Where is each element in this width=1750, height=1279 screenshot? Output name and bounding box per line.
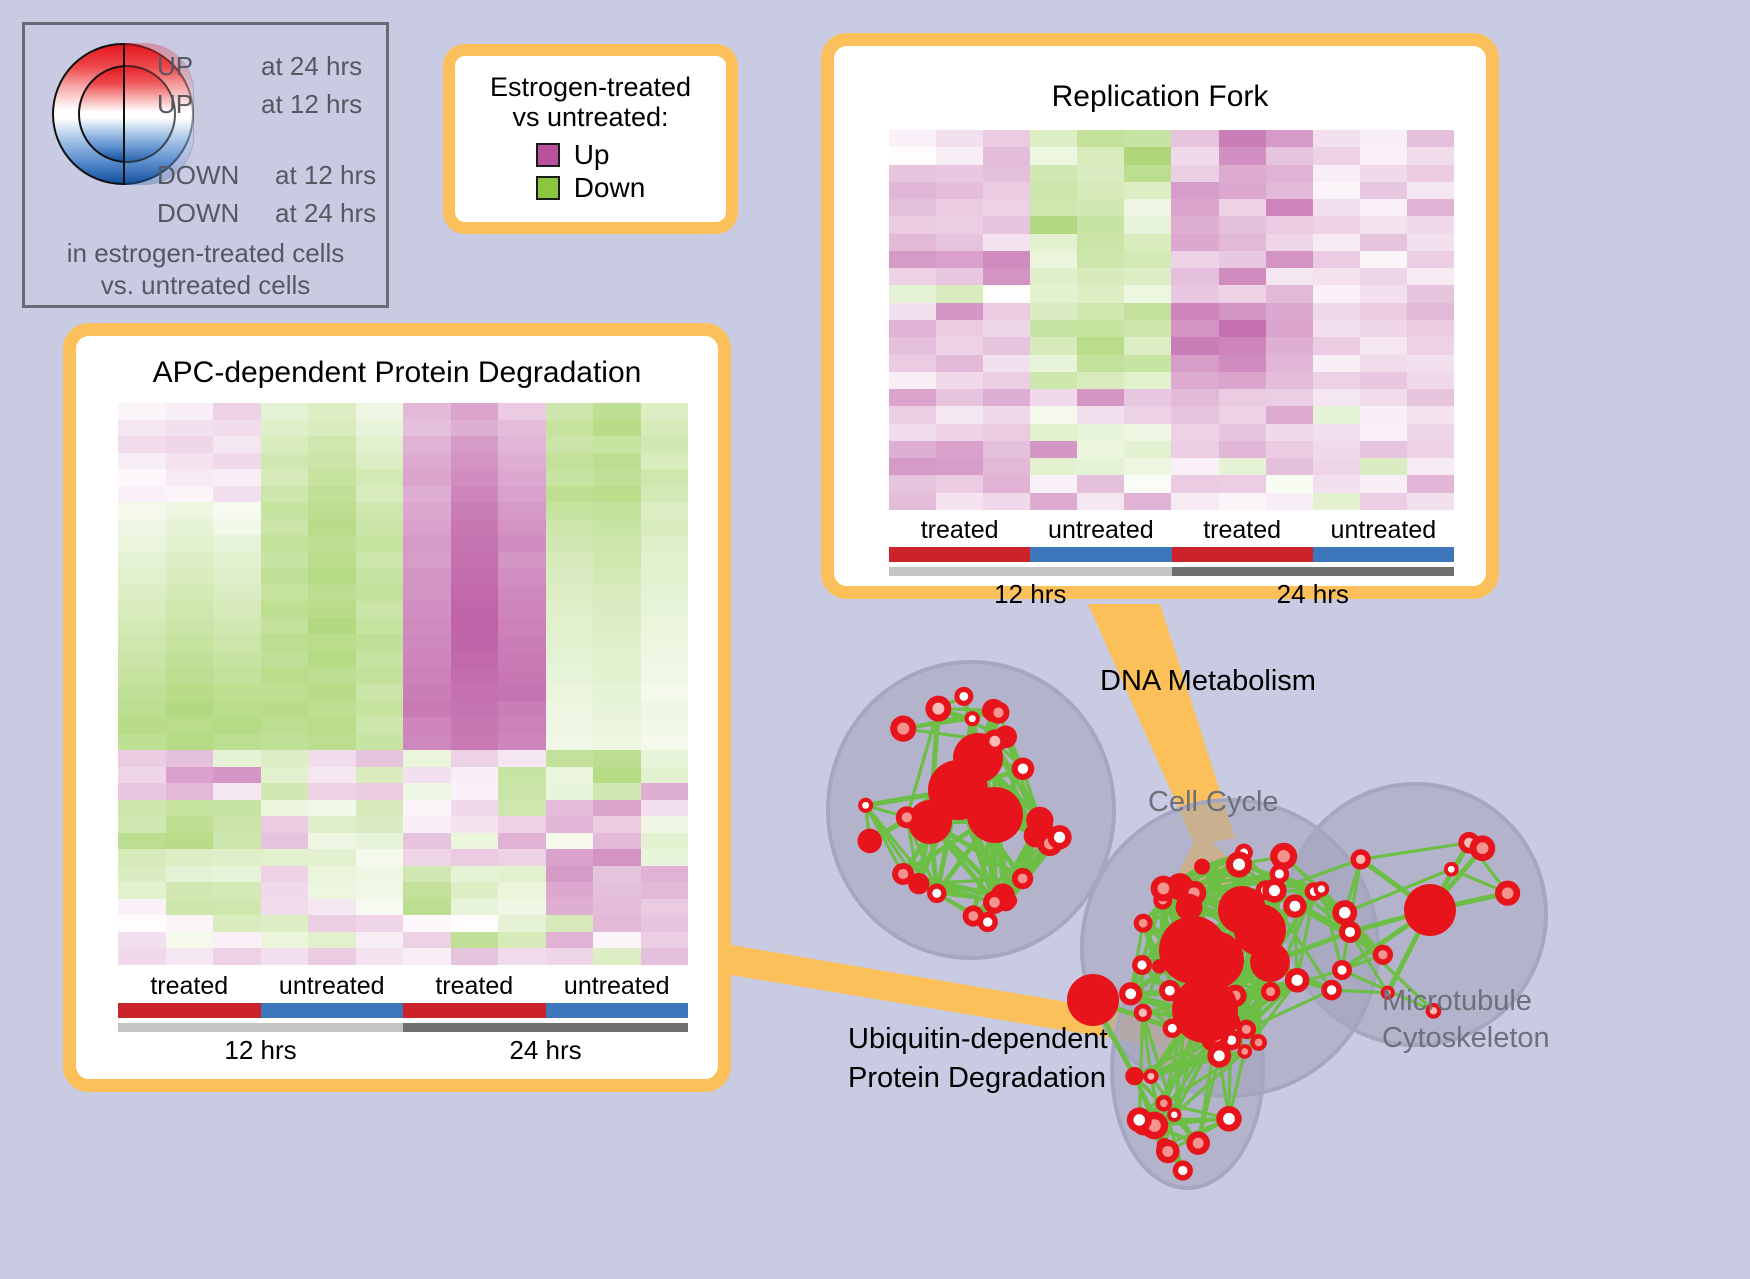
network-node[interactable] [1127, 1107, 1152, 1132]
heatmap-cell [546, 535, 594, 552]
network-node[interactable] [1321, 980, 1342, 1001]
heatmap-cell [356, 734, 404, 751]
heatmap-cell [261, 453, 309, 470]
heatmap-cell [451, 535, 499, 552]
network-node[interactable] [1314, 881, 1330, 897]
network-node[interactable] [978, 912, 998, 932]
heatmap-cell [1030, 337, 1077, 354]
network-node[interactable] [1132, 955, 1152, 975]
heatmap-cell [983, 458, 1030, 475]
heatmap-cell [936, 182, 983, 199]
heatmap-cell [356, 601, 404, 618]
heatmap-cell [936, 493, 983, 510]
heatmap-cell [1313, 337, 1360, 354]
condition-segment-treated-24h [1172, 547, 1313, 562]
heatmap-cell [118, 469, 166, 486]
heatmap-cell [641, 403, 689, 420]
time-label: 12 hrs [118, 1035, 403, 1066]
heatmap-cell [308, 568, 356, 585]
heatmap-cell [1124, 216, 1171, 233]
heatmap-cell [1124, 493, 1171, 510]
heatmap-cell [1030, 458, 1077, 475]
heatmap-cell [593, 403, 641, 420]
heatmap-cell [166, 436, 214, 453]
network-node[interactable] [1134, 914, 1153, 933]
heatmap-cell [1171, 251, 1218, 268]
heatmap-cell [1266, 285, 1313, 302]
network-node[interactable] [965, 711, 980, 726]
heatmap-cell [936, 199, 983, 216]
heatmap-cell [213, 535, 261, 552]
heatmap-cell [1124, 251, 1171, 268]
heatmap-cell [261, 667, 309, 684]
heatmap-cell [356, 816, 404, 833]
network-node[interactable] [1047, 825, 1071, 849]
heatmap-cell [451, 833, 499, 850]
network-node[interactable] [1495, 881, 1520, 906]
network-node[interactable] [1250, 942, 1290, 982]
heatmap-cell [546, 915, 594, 932]
heatmap-cell [1266, 251, 1313, 268]
network-node[interactable] [1250, 1034, 1267, 1051]
heatmap-cell [593, 667, 641, 684]
heatmap-cell [1313, 165, 1360, 182]
heatmap-cell [451, 684, 499, 701]
heatmap-cell [1407, 389, 1454, 406]
heatmap-cell [1407, 199, 1454, 216]
protein-interaction-network: DNA Metabolism Cell Cycle Microtubule Cy… [790, 610, 1750, 1279]
heatmap-cell [1219, 147, 1266, 164]
heatmap-cell [983, 234, 1030, 251]
heatmap-cell [983, 199, 1030, 216]
heatmap-cell [118, 618, 166, 635]
heatmap-cell [498, 767, 546, 784]
heatmap-cell [451, 519, 499, 536]
heatmap-cell [213, 453, 261, 470]
heatmap-cell [1313, 268, 1360, 285]
heatmap-cell [1407, 337, 1454, 354]
heatmap-cell [451, 618, 499, 635]
network-node[interactable] [967, 787, 1023, 843]
wheel-row-2-left: DOWN [157, 160, 239, 191]
heatmap-cell [403, 585, 451, 602]
network-node[interactable] [896, 806, 918, 828]
colorwheel-divider [123, 43, 125, 185]
heatmap-cell [308, 849, 356, 866]
heatmap-cell [261, 948, 309, 965]
heatmap-cell [498, 882, 546, 899]
network-node[interactable] [1373, 945, 1393, 965]
heatmap-cell [1407, 458, 1454, 475]
network-node[interactable] [857, 829, 882, 854]
heatmap-cell [1124, 424, 1171, 441]
legend-item-down: Down [536, 172, 646, 204]
heatmap-cell [118, 833, 166, 850]
heatmap-cell [1313, 234, 1360, 251]
heatmap-cell [641, 734, 689, 751]
heatmap-cell [166, 882, 214, 899]
heatmap-cell [641, 948, 689, 965]
heatmap-cell [166, 469, 214, 486]
heatmap-cell [166, 816, 214, 833]
heatmap-cell [593, 783, 641, 800]
heatmap-cell [1360, 130, 1407, 147]
heatmap-cell [261, 866, 309, 883]
heatmap-cell [593, 899, 641, 916]
heatmap-cell [1360, 234, 1407, 251]
heatmap-cell [356, 701, 404, 718]
heatmap-cell [166, 833, 214, 850]
heatmap-cell [118, 750, 166, 767]
heatmap-cell [1077, 320, 1124, 337]
network-node[interactable] [1237, 1044, 1252, 1059]
heatmap-cell [451, 634, 499, 651]
network-node[interactable] [890, 716, 916, 742]
condition-segment-untreated-24h [546, 1003, 689, 1018]
heatmap-cell [451, 767, 499, 784]
heatmap-cell [213, 684, 261, 701]
heatmap-cell [451, 486, 499, 503]
heatmap-cell [1407, 147, 1454, 164]
heatmap-cell [403, 734, 451, 751]
network-node[interactable] [1176, 894, 1203, 921]
network-node[interactable] [1194, 859, 1210, 875]
heatmap-cell [166, 767, 214, 784]
network-node[interactable] [1159, 916, 1227, 984]
heatmap-cell [936, 389, 983, 406]
network-node[interactable] [1155, 1095, 1172, 1112]
heatmap-cell [1313, 199, 1360, 216]
heatmap-cell [261, 750, 309, 767]
heatmap-cell [936, 424, 983, 441]
heatmap-cell [546, 469, 594, 486]
heatmap-cell [889, 493, 936, 510]
heatmap-cell [498, 932, 546, 949]
heatmap-cell [593, 684, 641, 701]
network-node[interactable] [1261, 982, 1280, 1001]
heatmap-cell [498, 469, 546, 486]
heatmap-cell [166, 453, 214, 470]
heatmap-cell [1360, 285, 1407, 302]
heatmap-cell [641, 800, 689, 817]
condition-segment-treated-24h [403, 1003, 546, 1018]
heatmap-cell [1219, 372, 1266, 389]
heatmap-cell [261, 502, 309, 519]
network-node[interactable] [1226, 851, 1252, 877]
heatmap-cell [546, 618, 594, 635]
network-node[interactable] [1172, 977, 1238, 1043]
heatmap-cell [261, 783, 309, 800]
heatmap-cell [1407, 303, 1454, 320]
heatmap-cell [1171, 216, 1218, 233]
heatmap-cell [1030, 165, 1077, 182]
heatmap-cell [451, 783, 499, 800]
heatmap-cell [1313, 303, 1360, 320]
heatmap-cell [118, 552, 166, 569]
network-node[interactable] [1444, 862, 1459, 877]
heatmap-cell [403, 403, 451, 420]
heatmap-cell [213, 618, 261, 635]
network-node[interactable] [1173, 1160, 1193, 1180]
heatmap-cell [1030, 372, 1077, 389]
heatmap-cell [1077, 165, 1124, 182]
network-node[interactable] [954, 687, 973, 706]
heatmap-cell [1124, 182, 1171, 199]
heatmap-cell [451, 849, 499, 866]
network-node[interactable] [1470, 835, 1496, 861]
heatmap-cell [118, 519, 166, 536]
heatmap-cell [593, 932, 641, 949]
heatmap-cell [1077, 475, 1124, 492]
network-node[interactable] [1125, 1067, 1143, 1085]
heatmap-cell [1030, 320, 1077, 337]
heatmap-cell [1219, 441, 1266, 458]
heatmap-cell [889, 182, 936, 199]
sample-label: treated [118, 972, 261, 1001]
network-node[interactable] [1339, 921, 1361, 943]
heatmap-cell [498, 899, 546, 916]
heatmap-cell [498, 634, 546, 651]
heatmap-cell [641, 519, 689, 536]
heatmap-cell [1266, 441, 1313, 458]
network-node[interactable] [1134, 1004, 1152, 1022]
heatmap-cell [1171, 337, 1218, 354]
network-node[interactable] [927, 884, 947, 904]
heatmap-cell [1171, 285, 1218, 302]
heatmap-cell [403, 866, 451, 883]
heatmap-cell [403, 750, 451, 767]
heatmap-cell [498, 502, 546, 519]
heatmap-cell [983, 182, 1030, 199]
heatmap-cell [1171, 389, 1218, 406]
heatmap-cell [498, 453, 546, 470]
sample-label: untreated [261, 972, 404, 1001]
condition-segment-treated-12h [118, 1003, 261, 1018]
network-node[interactable] [983, 729, 1007, 753]
heatmap-cell [1266, 268, 1313, 285]
heatmap-cell [451, 403, 499, 420]
time-label: 12 hrs [889, 579, 1172, 610]
heatmap-cell [1313, 182, 1360, 199]
network-node[interactable] [1350, 849, 1370, 869]
heatmap-cell [936, 475, 983, 492]
heatmap-cell [498, 783, 546, 800]
heatmap-cell [1360, 406, 1407, 423]
network-node[interactable] [858, 798, 873, 813]
panel-apc-title: APC-dependent Protein Degradation [76, 356, 718, 390]
heatmap-cell [889, 251, 936, 268]
network-node[interactable] [987, 702, 1009, 724]
heatmap-cell [983, 389, 1030, 406]
heatmap-cell [356, 618, 404, 635]
down-color-swatch [536, 176, 560, 200]
heatmap-cell [308, 403, 356, 420]
heatmap-cell [356, 717, 404, 734]
heatmap-cell [403, 601, 451, 618]
heatmap-cell [1124, 389, 1171, 406]
network-node[interactable] [1012, 757, 1035, 780]
heatmap-cell [213, 750, 261, 767]
heatmap-cell [1030, 475, 1077, 492]
heatmap-cell [1077, 372, 1124, 389]
heatmap-cell [1360, 147, 1407, 164]
network-node[interactable] [1262, 878, 1286, 902]
heatmap-cell [1171, 441, 1218, 458]
heatmap-cell [641, 420, 689, 437]
heatmap-cell [498, 701, 546, 718]
heatmap-cell [498, 601, 546, 618]
heatmap-cell [641, 601, 689, 618]
network-node[interactable] [1332, 960, 1352, 980]
panel-replication-fork-title: Replication Fork [834, 80, 1486, 114]
heatmap-cell [641, 783, 689, 800]
network-node[interactable] [1270, 843, 1297, 870]
heatmap-cell [546, 816, 594, 833]
heatmap-cell [641, 436, 689, 453]
heatmap-cell [889, 165, 936, 182]
heatmap-cell [1219, 406, 1266, 423]
heatmap-cell [1219, 285, 1266, 302]
heatmap-cell [166, 866, 214, 883]
network-node[interactable] [1167, 1108, 1181, 1122]
heatmap-cell [593, 849, 641, 866]
heatmap-cell [118, 535, 166, 552]
network-edge [1361, 843, 1469, 860]
heatmap-cell [593, 519, 641, 536]
heatmap-cell [1030, 303, 1077, 320]
heatmap-cell [546, 932, 594, 949]
heatmap-cell [593, 436, 641, 453]
heatmap-cell [889, 199, 936, 216]
heatmap-cell [403, 833, 451, 850]
network-node[interactable] [1143, 1069, 1158, 1084]
heatmap-cell [1313, 216, 1360, 233]
heatmap-cell [403, 800, 451, 817]
network-node[interactable] [983, 891, 1006, 914]
heatmap-cell [593, 651, 641, 668]
heatmap-cell [1030, 406, 1077, 423]
heatmap-cell [308, 750, 356, 767]
heatmap-cell [1077, 234, 1124, 251]
heatmap-cell [1077, 303, 1124, 320]
heatmap-cell [213, 882, 261, 899]
network-node[interactable] [1152, 959, 1166, 973]
time-label: 24 hrs [403, 1035, 688, 1066]
heatmap-cell [1030, 285, 1077, 302]
network-node[interactable] [1216, 1106, 1242, 1132]
heatmap-cell [1313, 372, 1360, 389]
heatmap-cell [889, 130, 936, 147]
heatmap-cell [546, 783, 594, 800]
heatmap-cell [166, 849, 214, 866]
heatmap-cell [213, 932, 261, 949]
heatmap-cell [403, 701, 451, 718]
heatmap-cell [356, 453, 404, 470]
heatmap-cell [1407, 441, 1454, 458]
heatmap-cell [498, 915, 546, 932]
heatmap-cell [308, 552, 356, 569]
heatmap-cell [1266, 475, 1313, 492]
network-node[interactable] [1186, 1131, 1210, 1155]
heatmap-cell [1360, 182, 1407, 199]
time-bar-apc [118, 1023, 688, 1032]
condition-segment-untreated-24h [1313, 547, 1454, 562]
network-label-microtubule: Microtubule [1382, 985, 1532, 1018]
network-node[interactable] [1332, 900, 1357, 925]
heatmap-cell [1360, 458, 1407, 475]
heatmap-cell [118, 486, 166, 503]
heatmap-cell [641, 634, 689, 651]
network-edge [1139, 1013, 1143, 1120]
time-labels-apc: 12 hrs 24 hrs [118, 1035, 688, 1066]
heatmap-cell [403, 816, 451, 833]
heatmap-cell [1171, 147, 1218, 164]
network-node[interactable] [1012, 868, 1033, 889]
sample-label: treated [1172, 516, 1313, 545]
network-node[interactable] [1119, 982, 1142, 1005]
heatmap-cell [1219, 389, 1266, 406]
heatmap-cell [166, 717, 214, 734]
heatmap-cell [261, 420, 309, 437]
network-node[interactable] [1156, 1140, 1180, 1164]
heatmap-cell [1124, 337, 1171, 354]
heatmap-cell [641, 866, 689, 883]
heatmap-cell [1313, 475, 1360, 492]
heatmap-cell [356, 634, 404, 651]
heatmap-cell [1077, 251, 1124, 268]
network-node[interactable] [1283, 894, 1306, 917]
heatmap-cell [1030, 130, 1077, 147]
heatmap-cell [1360, 320, 1407, 337]
heatmap-cell [936, 268, 983, 285]
heatmap-cell [356, 651, 404, 668]
network-node[interactable] [925, 696, 951, 722]
network-node[interactable] [1151, 876, 1177, 902]
network-node[interactable] [1067, 974, 1119, 1026]
heatmap-cell [356, 469, 404, 486]
heatmap-cell [166, 601, 214, 618]
heatmap-cell [889, 389, 936, 406]
heatmap-cell [641, 502, 689, 519]
heatmap-cell [403, 899, 451, 916]
heatmap-cell [1171, 268, 1218, 285]
heatmap-cell [403, 948, 451, 965]
heatmap-cell [889, 475, 936, 492]
heatmap-cell [546, 568, 594, 585]
heatmap-cell [118, 453, 166, 470]
heatmap-cell [1266, 389, 1313, 406]
heatmap-cell [1077, 458, 1124, 475]
heatmap-cell [1077, 424, 1124, 441]
heatmap-cell [641, 651, 689, 668]
heatmap-cell [451, 568, 499, 585]
heatmap-cell [1124, 268, 1171, 285]
heatmap-cell [261, 403, 309, 420]
heatmap-cell [593, 535, 641, 552]
network-node[interactable] [908, 873, 929, 894]
network-node[interactable] [1404, 884, 1456, 936]
heatmap-cell [356, 403, 404, 420]
network-node[interactable] [1285, 968, 1310, 993]
heatmap-cell [213, 403, 261, 420]
heatmap-cell [213, 552, 261, 569]
heatmap-cell [356, 783, 404, 800]
heatmap-cell [936, 303, 983, 320]
heatmap-cell [1219, 493, 1266, 510]
heatmap-cell [1171, 458, 1218, 475]
heatmap-cell [498, 568, 546, 585]
heatmap-cell [356, 932, 404, 949]
